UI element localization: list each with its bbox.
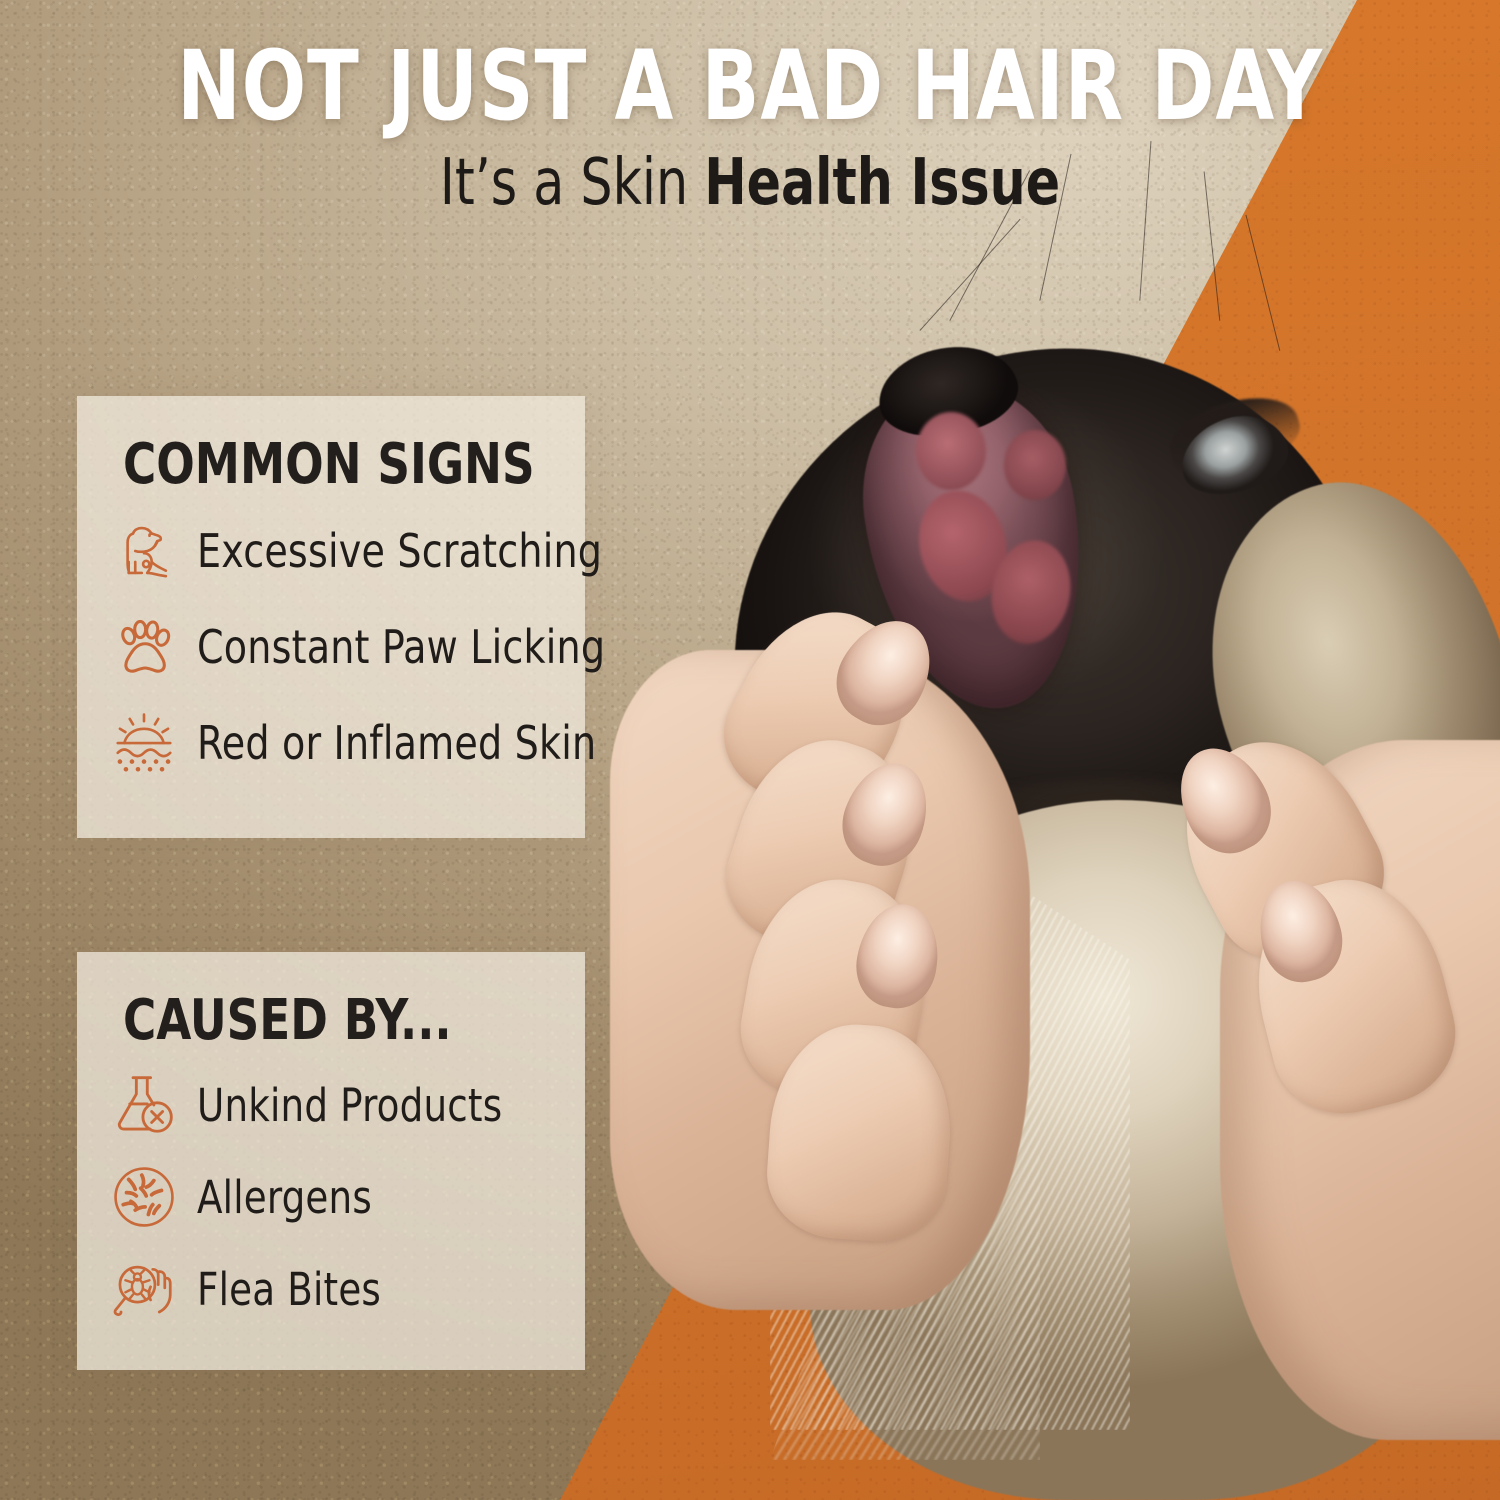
list-item: Unkind Products [77,1059,585,1151]
list-item: Excessive Scratching [77,503,585,599]
flask-no-entry-icon [107,1068,181,1142]
allergen-bacteria-icon [107,1160,181,1234]
caused-by-list: Unkind Products [77,1059,585,1335]
inflamed-skin-icon [107,706,181,780]
whisker [919,219,1020,331]
subtitle-light-part: It’s a Skin [440,146,704,220]
skin-lesion [1004,430,1066,500]
page-subtitle: It’s a Skin Health Issue [90,150,1410,217]
headline-block: NOT JUST A BAD HAIR DAY It’s a Skin Heal… [0,38,1500,217]
list-item-label: Excessive Scratching [197,524,602,578]
common-signs-card: COMMON SIGNS [77,396,585,838]
caused-by-card: CAUSED BY... Unkind Products [77,952,585,1370]
dog-scratching-icon [107,514,181,588]
list-item-label: Constant Paw Licking [197,620,605,674]
poster-canvas: NOT JUST A BAD HAIR DAY It’s a Skin Heal… [0,0,1500,1500]
page-title: NOT JUST A BAD HAIR DAY [90,38,1410,136]
list-item-label: Unkind Products [197,1079,502,1132]
card-title-caused-by: CAUSED BY... [123,988,539,1053]
flea-magnifier-icon [107,1252,181,1326]
list-item-label: Red or Inflamed Skin [197,716,596,770]
list-item-label: Flea Bites [197,1263,381,1316]
subtitle-bold-part: Health Issue [704,146,1060,220]
dog-photo [620,180,1500,1500]
list-item: Flea Bites [77,1243,585,1335]
list-item: Red or Inflamed Skin [77,695,585,791]
card-title-common-signs: COMMON SIGNS [123,432,539,497]
list-item: Allergens [77,1151,585,1243]
list-item-label: Allergens [197,1171,372,1224]
skin-lesion [916,412,986,490]
whisker [1245,215,1280,351]
paw-print-icon [107,610,181,684]
common-signs-list: Excessive Scratching Constant Paw Lickin… [77,503,585,791]
list-item: Constant Paw Licking [77,599,585,695]
